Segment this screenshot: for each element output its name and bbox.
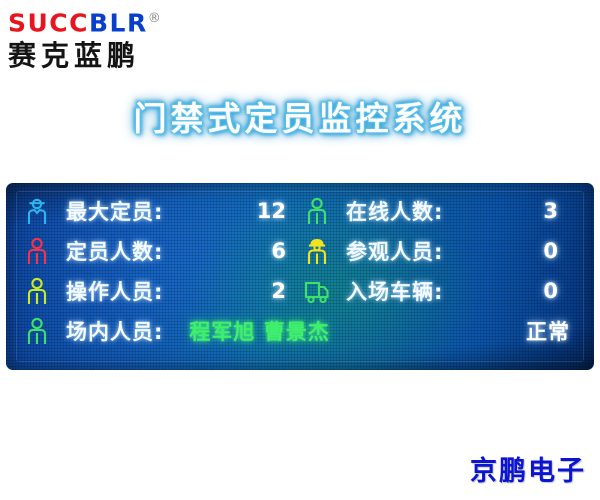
person-with-helmet-icon	[304, 236, 330, 266]
stat-vehicle-count: 入场车辆: 0	[304, 271, 576, 311]
truck-icon	[304, 276, 330, 306]
stat-value: 12	[163, 199, 304, 223]
page-title: 门禁式定员监控系统	[0, 92, 600, 140]
brand-wordmark-red: SUCC	[8, 8, 89, 37]
onsite-personnel-row: 场内人员: 程军旭 曹景杰 正常	[24, 311, 580, 351]
stat-value: 0	[443, 239, 576, 263]
brand-wordmark-blue: BLR	[89, 8, 148, 37]
person-icon	[24, 236, 50, 266]
stat-value: 0	[443, 279, 576, 303]
brand-logo: SUCCBLR® 赛克蓝鹏	[8, 4, 218, 70]
led-content-grid: 最大定员: 12 在线人数: 3	[6, 183, 594, 370]
stat-label: 入场车辆:	[346, 276, 443, 306]
person-icon	[24, 276, 50, 306]
stat-operator-count: 操作人员: 2	[24, 271, 304, 311]
led-row: 最大定员: 12 在线人数: 3	[24, 191, 580, 231]
footer-company-name: 京鹏电子	[470, 449, 586, 488]
stat-quota-count: 定员人数: 6	[24, 231, 304, 271]
led-row: 操作人员: 2 入场车辆: 0	[24, 271, 580, 311]
stat-label: 最大定员:	[66, 196, 163, 226]
stat-online-count: 在线人数: 3	[304, 191, 576, 231]
stat-label: 操作人员:	[66, 276, 163, 306]
stat-label: 定员人数:	[66, 236, 163, 266]
led-row: 定员人数: 6 参观人员: 0	[24, 231, 580, 271]
stat-value: 2	[163, 279, 304, 303]
stat-value: 6	[163, 239, 304, 263]
led-display-panel: 最大定员: 12 在线人数: 3	[6, 183, 594, 370]
led-row: 场内人员: 程军旭 曹景杰 正常	[24, 311, 580, 351]
onsite-personnel-label: 场内人员:	[66, 316, 163, 346]
person-icon	[24, 316, 50, 346]
status-badge: 正常	[526, 316, 580, 346]
stat-visitor-count: 参观人员: 0	[304, 231, 576, 271]
brand-chinese-name: 赛克蓝鹏	[8, 39, 218, 73]
brand-wordmark: SUCCBLR®	[8, 4, 218, 38]
stat-label: 参观人员:	[346, 236, 443, 266]
stat-value: 3	[443, 199, 576, 223]
stat-label: 在线人数:	[346, 196, 443, 226]
registered-trademark-icon: ®	[148, 11, 161, 26]
person-icon	[304, 196, 330, 226]
stat-max-capacity: 最大定员: 12	[24, 191, 304, 231]
person-with-cap-icon	[24, 196, 50, 226]
onsite-personnel-names: 程军旭 曹景杰	[163, 316, 526, 346]
